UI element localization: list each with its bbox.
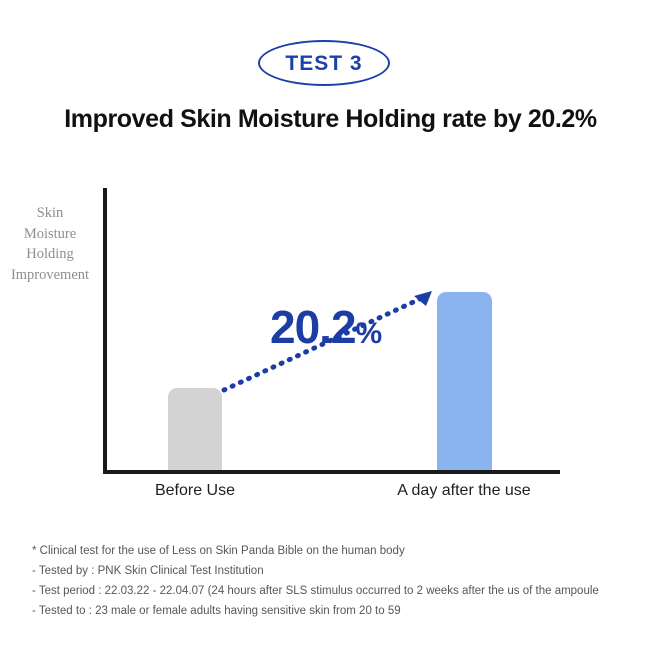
bar-a-day-after-the-use bbox=[437, 292, 492, 470]
x-axis-label-after-use: A day after the use bbox=[378, 482, 550, 500]
y-axis-title-line-2: Moisture bbox=[0, 224, 100, 245]
footnote-item: - Test period : 22.03.22 - 22.04.07 (24 … bbox=[32, 581, 652, 601]
callout-number: 20.2 bbox=[270, 301, 356, 353]
footnote-item: * Clinical test for the use of Less on S… bbox=[32, 541, 652, 561]
callout-unit: % bbox=[356, 317, 382, 350]
callout-value: 20.2% bbox=[270, 304, 381, 350]
footnotes: * Clinical test for the use of Less on S… bbox=[32, 541, 652, 621]
y-axis-title-line-1: Skin bbox=[0, 203, 100, 224]
x-axis-label-before-use: Before Use bbox=[125, 482, 265, 500]
y-axis-title-line-4: Improvement bbox=[0, 265, 100, 286]
bar-before-use bbox=[168, 388, 222, 470]
footnote-item: - Tested to : 23 male or female adults h… bbox=[32, 601, 652, 621]
y-axis-title: Skin Moisture Holding Improvement bbox=[0, 203, 100, 285]
footnote-item: - Tested by : PNK Skin Clinical Test Ins… bbox=[32, 561, 652, 581]
y-axis-line bbox=[103, 188, 107, 474]
y-axis-title-line-3: Holding bbox=[0, 244, 100, 265]
x-axis-line bbox=[103, 470, 560, 474]
